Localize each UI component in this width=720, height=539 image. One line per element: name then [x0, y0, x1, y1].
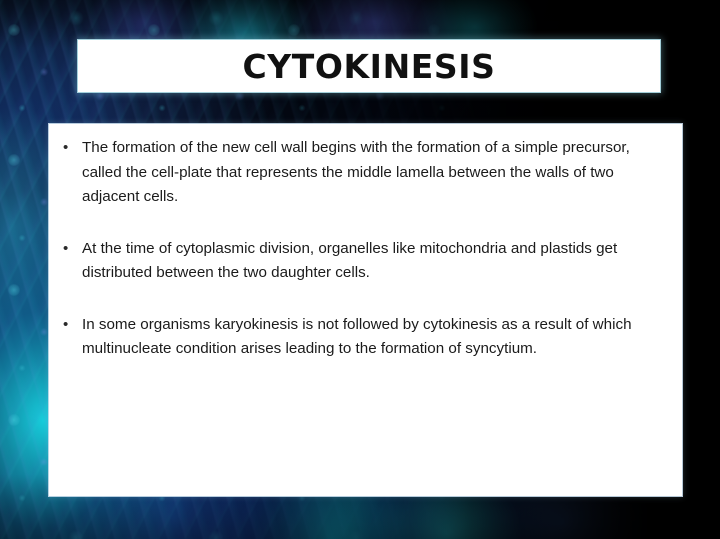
list-item-text: The formation of the new cell wall begin… — [82, 136, 664, 210]
bullet-list: • The formation of the new cell wall beg… — [63, 136, 664, 362]
slide-title-box: CYTOKINESIS — [78, 40, 660, 92]
list-item-text: At the time of cytoplasmic division, org… — [82, 237, 664, 286]
list-item: • The formation of the new cell wall beg… — [63, 136, 664, 210]
list-item: • In some organisms karyokinesis is not … — [63, 313, 664, 362]
slide-content-box: • The formation of the new cell wall beg… — [49, 124, 682, 496]
bullet-point-icon: • — [63, 313, 82, 338]
list-item-text: In some organisms karyokinesis is not fo… — [82, 313, 664, 362]
bullet-point-icon: • — [63, 136, 82, 161]
page-title: CYTOKINESIS — [242, 50, 495, 83]
bullet-point-icon: • — [63, 237, 82, 262]
presentation-slide: CYTOKINESIS • The formation of the new c… — [0, 0, 720, 539]
list-item: • At the time of cytoplasmic division, o… — [63, 237, 664, 286]
